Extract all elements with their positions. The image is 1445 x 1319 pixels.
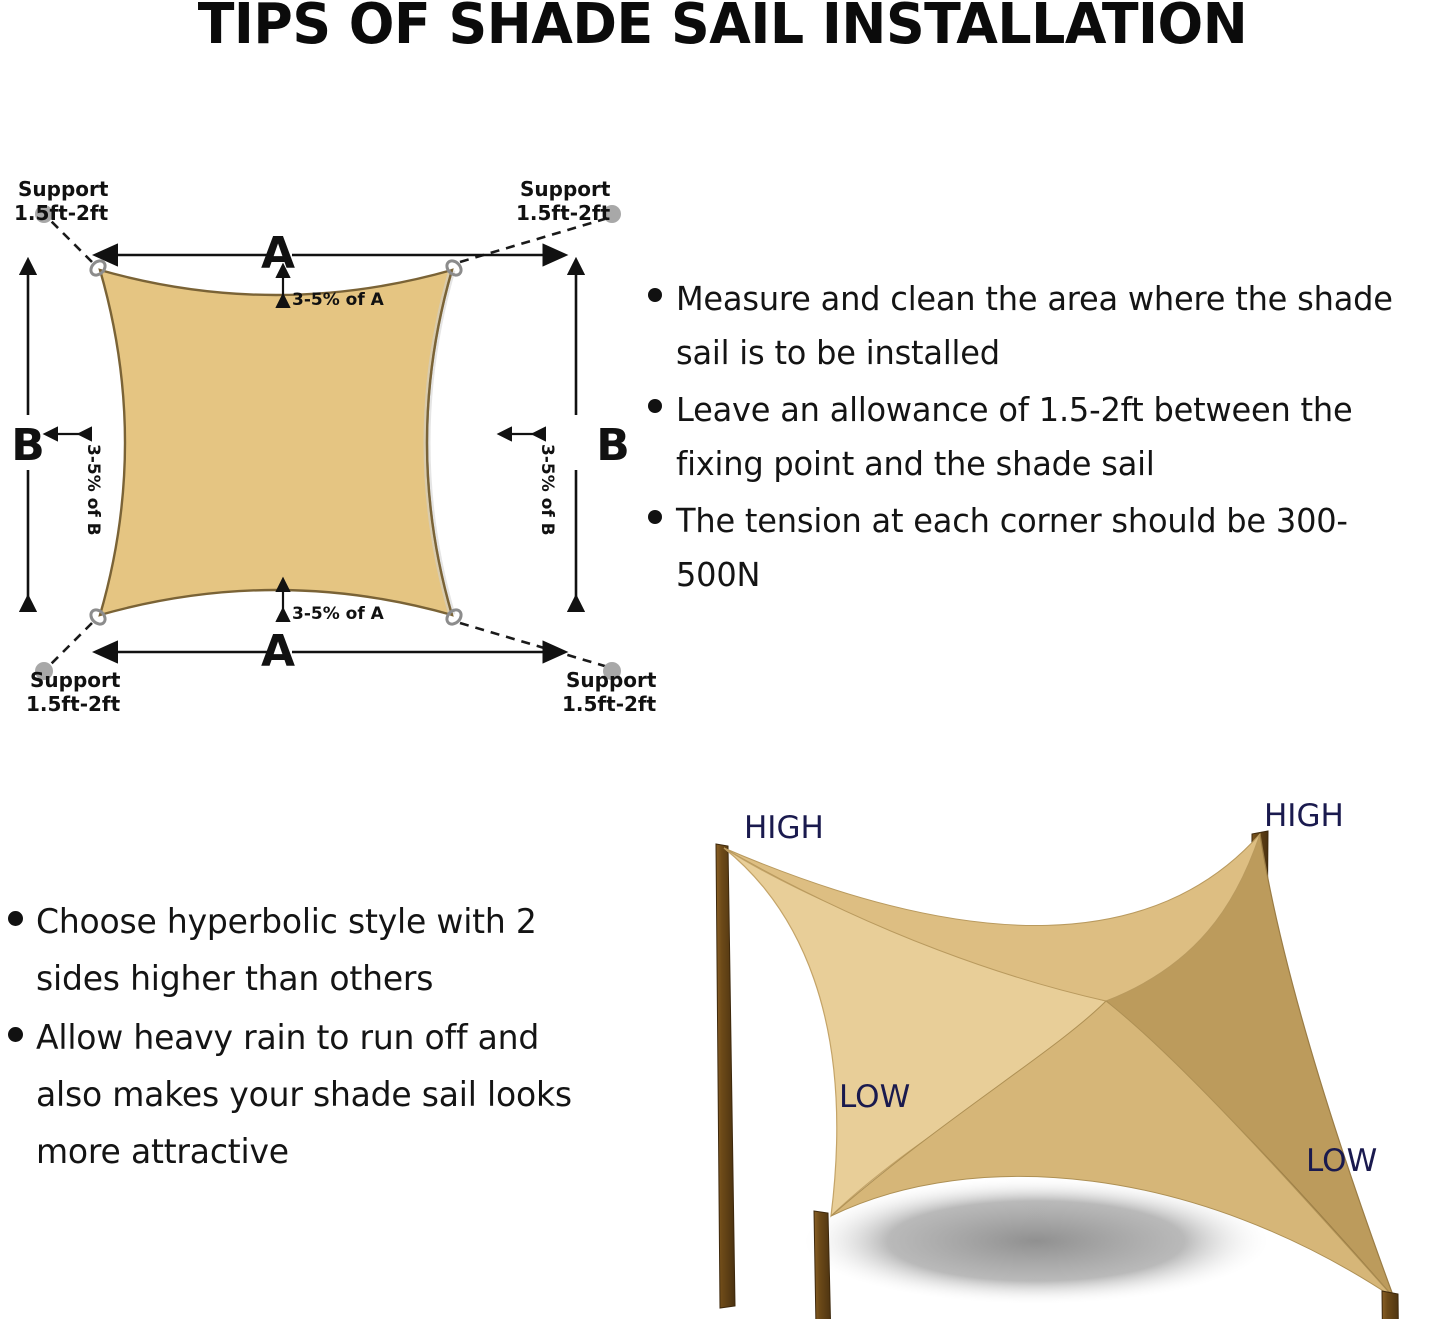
- sag-label-bottom: 3-5% of A: [292, 604, 385, 624]
- bullet-dot-icon: [648, 510, 662, 524]
- list-item: Leave an allowance of 1.5-2ft between th…: [648, 383, 1445, 492]
- dimension-label-a-bottom: A: [261, 626, 295, 677]
- page-title: TIPS OF SHADE SAIL INSTALLATION: [29, 0, 1416, 57]
- label-low-left: LOW: [839, 1079, 910, 1115]
- dimension-label-b-right: B: [596, 420, 630, 471]
- dimension-a-bottom: A 3-5% of A: [118, 592, 545, 677]
- rect-diagram-svg: A 3-5% of A A 3-5% of A B 3-5% of B: [0, 160, 660, 730]
- sail-shape: [100, 270, 452, 615]
- support-label-top-right-line1: Support: [520, 177, 611, 201]
- bullet-dot-icon: [8, 1027, 23, 1042]
- support-label-top-left-line1: Support: [18, 177, 109, 201]
- support-label-top-right-line2: 1.5ft-2ft: [516, 201, 611, 225]
- sag-label-top: 3-5% of A: [292, 290, 385, 310]
- support-label-bottom-right-line2: 1.5ft-2ft: [562, 692, 657, 716]
- dimension-b-left: B 3-5% of B: [11, 275, 103, 612]
- bullet-dot-icon: [648, 399, 662, 413]
- list-item: Measure and clean the area where the sha…: [648, 272, 1445, 381]
- tip-text: Leave an allowance of 1.5-2ft between th…: [676, 383, 1425, 492]
- tip-text: Allow heavy rain to run off and also mak…: [36, 1010, 610, 1181]
- sag-label-left: 3-5% of B: [83, 444, 103, 536]
- tip-text: The tension at each corner should be 300…: [676, 494, 1425, 603]
- installation-tips-list: Measure and clean the area where the sha…: [648, 272, 1445, 605]
- bullet-dot-icon: [8, 911, 23, 926]
- dimension-label-a-top: A: [261, 228, 295, 279]
- support-label-bottom-right-line1: Support: [566, 668, 657, 692]
- post-rear-left: [716, 844, 735, 1308]
- list-item: The tension at each corner should be 300…: [648, 494, 1445, 603]
- dimension-b-right: B 3-5% of B: [512, 275, 630, 612]
- list-item: Choose hyperbolic style with 2 sides hig…: [8, 894, 628, 1008]
- list-item: Allow heavy rain to run off and also mak…: [8, 1010, 628, 1181]
- post-front-right: [1382, 1291, 1400, 1319]
- hyperbolic-sail-diagram: HIGH HIGH LOW LOW: [676, 786, 1445, 1319]
- bullet-dot-icon: [648, 288, 662, 302]
- dimension-label-b-left: B: [11, 420, 45, 471]
- label-low-right: LOW: [1306, 1143, 1377, 1179]
- support-label-bottom-left-line1: Support: [30, 668, 121, 692]
- support-label-top-left-line2: 1.5ft-2ft: [14, 201, 109, 225]
- hyperbolic-tips-list: Choose hyperbolic style with 2 sides hig…: [8, 894, 628, 1184]
- support-label-bottom-left-line2: 1.5ft-2ft: [26, 692, 121, 716]
- rectangular-sail-diagram: A 3-5% of A A 3-5% of A B 3-5% of B: [0, 160, 660, 730]
- sag-label-right: 3-5% of B: [537, 444, 557, 536]
- hyper-diagram-svg: HIGH HIGH LOW LOW: [676, 786, 1445, 1319]
- label-high-left: HIGH: [744, 810, 824, 846]
- tip-text: Choose hyperbolic style with 2 sides hig…: [36, 894, 610, 1008]
- tip-text: Measure and clean the area where the sha…: [676, 272, 1425, 381]
- label-high-right: HIGH: [1264, 798, 1344, 834]
